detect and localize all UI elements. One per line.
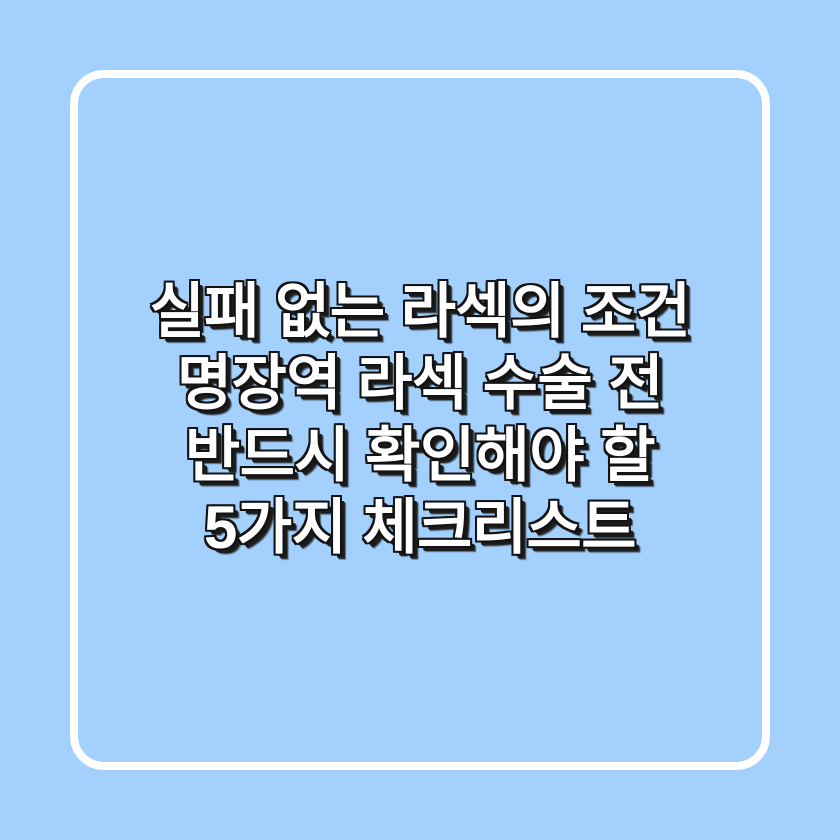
title-line-3: 반드시 확인해야 할 <box>78 420 762 492</box>
title-line-4: 5가지 체크리스트 <box>78 492 762 564</box>
title-block: 실패 없는 라섹의 조건 명장역 라섹 수술 전 반드시 확인해야 할 5가지 … <box>0 0 840 840</box>
title-line-1: 실패 없는 라섹의 조건 <box>78 276 762 348</box>
thumbnail-canvas: 실패 없는 라섹의 조건 명장역 라섹 수술 전 반드시 확인해야 할 5가지 … <box>0 0 840 840</box>
title-line-2: 명장역 라섹 수술 전 <box>78 348 762 420</box>
